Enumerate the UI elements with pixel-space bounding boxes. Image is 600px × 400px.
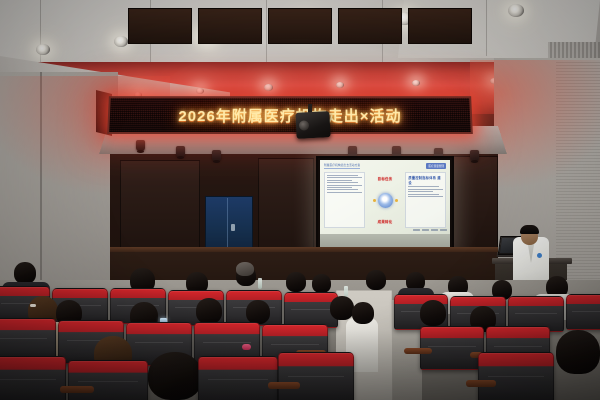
attendee-head [366, 270, 386, 290]
stage-wood-panel [408, 8, 472, 44]
slide-footer-chip [413, 229, 420, 231]
slide-text-line [327, 185, 362, 186]
projection-screen-frame: 附属医疗机构走出去活动方案 医疗质量管理 目标 [316, 156, 454, 252]
led-banner-panel: 2026年附属医疗机构走出×活动 [109, 98, 471, 132]
attendee-head [286, 272, 306, 292]
door-handle[interactable] [231, 224, 235, 231]
projection-screen: 附属医疗机构走出去活动方案 医疗质量管理 目标 [320, 160, 450, 248]
water-bottle [258, 278, 262, 289]
slide-text-line [327, 192, 362, 193]
slide-text-line [408, 194, 439, 195]
slide-text-line [327, 189, 358, 190]
ceiling-seam [266, 0, 267, 66]
stage-wood-panel [198, 8, 262, 44]
presentation-slide: 附属医疗机构走出去活动方案 医疗质量管理 目标 [320, 160, 450, 234]
speaker-hair [520, 225, 539, 234]
attendee-head [312, 274, 331, 293]
slide-text-line [408, 191, 433, 192]
hair-bow [242, 344, 251, 350]
slide-header: 附属医疗机构走出去活动方案 医疗质量管理 [324, 163, 446, 169]
attendee-head [196, 298, 222, 324]
slide-right-title: 质量控制指标体系 建设 [408, 175, 443, 185]
attendee-head [14, 262, 36, 284]
slide-circle-diagram [378, 193, 393, 208]
attendee-head [236, 262, 254, 276]
slide-header-title: 附属医疗机构走出去活动方案 [324, 163, 360, 169]
stage-wood-panel [338, 8, 402, 44]
seat[interactable] [278, 352, 354, 400]
ceiling-downlight [508, 4, 524, 17]
attendee-head [246, 300, 270, 324]
slide-text-line [327, 182, 358, 183]
attendee-head [148, 352, 202, 400]
slide-text-line [408, 196, 443, 197]
attendee-head [330, 296, 354, 320]
slide-text-line [327, 177, 362, 178]
wall-panel [258, 158, 314, 258]
seat[interactable] [0, 356, 66, 400]
slide-text-line [327, 187, 352, 188]
stage-spotlight [470, 150, 479, 161]
ceiling-seam [486, 0, 487, 56]
slide-keyword-bottom: 成果转化 [378, 219, 393, 224]
wall-panel [120, 160, 200, 258]
stage-wood-panel [128, 8, 192, 44]
screen-bottom-band [320, 234, 450, 248]
slide-footer-chip [440, 229, 447, 231]
slide-footer-chip [431, 229, 438, 231]
slide-footer-chips [413, 229, 447, 231]
soffit-downlight [336, 82, 344, 88]
soffit-downlight [412, 80, 420, 86]
stage-wood-panel [268, 8, 332, 44]
attendee-head [420, 300, 446, 326]
projector-lens [299, 120, 310, 131]
stage-spotlight [176, 146, 185, 157]
led-banner: 2026年附属医疗机构走出×活动 [107, 96, 473, 134]
hair-clip [30, 304, 36, 307]
wall-panel [452, 156, 498, 258]
slide-header-tag: 医疗质量管理 [426, 163, 446, 169]
seat-armrest [466, 380, 496, 387]
stage-spotlight [212, 150, 221, 161]
slide-text-line [327, 180, 352, 181]
attendee-head [352, 302, 374, 324]
stage-spotlight [136, 140, 145, 151]
slide-column-left [324, 172, 365, 228]
ceiling-downlight [114, 36, 128, 47]
slide-footer-chip [422, 229, 429, 231]
seat-armrest [60, 386, 94, 393]
ceiling-downlight [36, 44, 50, 55]
slide-keyword-top: 目标任务 [378, 176, 393, 181]
slide-column-center: 目标任务 成果转化 [368, 172, 403, 228]
seat[interactable] [566, 294, 600, 330]
ceiling-projector [295, 111, 330, 139]
slide-text-line [408, 186, 439, 187]
seat[interactable] [198, 356, 278, 400]
slide-text-line [408, 189, 443, 190]
attendee-head [556, 330, 600, 374]
soffit-downlight [196, 88, 204, 94]
seat-armrest [268, 382, 300, 389]
slide-text-line [327, 175, 358, 176]
slide-body: 目标任务 成果转化 质量控制指标体系 建设 [324, 172, 446, 228]
led-banner-text: 2026年附属医疗机构走出×活动 [178, 105, 402, 126]
slide-column-right: 质量控制指标体系 建设 [405, 172, 446, 228]
speaker-badge [537, 253, 542, 258]
seat[interactable] [68, 360, 148, 400]
soffit-downlight [264, 84, 273, 91]
seat-armrest [404, 348, 432, 354]
seat[interactable] [478, 352, 554, 400]
auditorium-photo: 2026年附属医疗机构走出×活动 附属医疗机构走出去活动方案 医疗质量管理 [0, 0, 600, 400]
